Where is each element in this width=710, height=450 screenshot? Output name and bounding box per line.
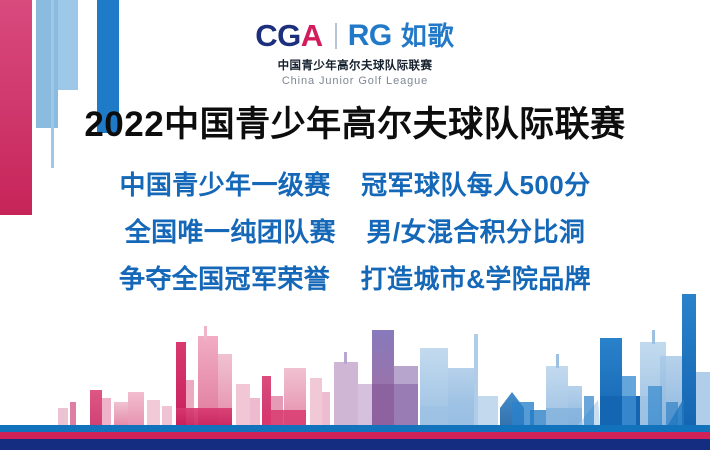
rugo-logo-mark: 如歌 [401, 20, 455, 52]
poster-canvas: CGA RG 如歌 中国青少年高尔夫球队际联赛 China Junior Gol… [0, 0, 710, 450]
rg-logo-mark: RG [348, 20, 392, 52]
band-blue [0, 425, 710, 432]
band-navy [0, 439, 710, 450]
cga-logo-a: A [301, 18, 323, 53]
skyline-illustration [0, 280, 710, 425]
logo-lockup: CGA RG 如歌 [255, 20, 454, 52]
band-crimson [0, 432, 710, 439]
feature-line-1: 中国青少年一级赛 冠军球队每人500分 [0, 162, 710, 209]
cga-logo-mark: CGA [255, 20, 322, 52]
logo-block: CGA RG 如歌 中国青少年高尔夫球队际联赛 China Junior Gol… [0, 20, 710, 87]
page-title: 2022中国青少年高尔夫球队际联赛 [0, 96, 710, 147]
logo-subtitle-cn: 中国青少年高尔夫球队际联赛 [0, 57, 710, 73]
logo-subtitle-en: China Junior Golf League [0, 75, 710, 87]
logo-divider [335, 23, 337, 49]
feature-line-2: 全国唯一纯团队赛 男/女混合积分比洞 [0, 209, 710, 256]
cga-logo-cg: CG [255, 18, 301, 53]
